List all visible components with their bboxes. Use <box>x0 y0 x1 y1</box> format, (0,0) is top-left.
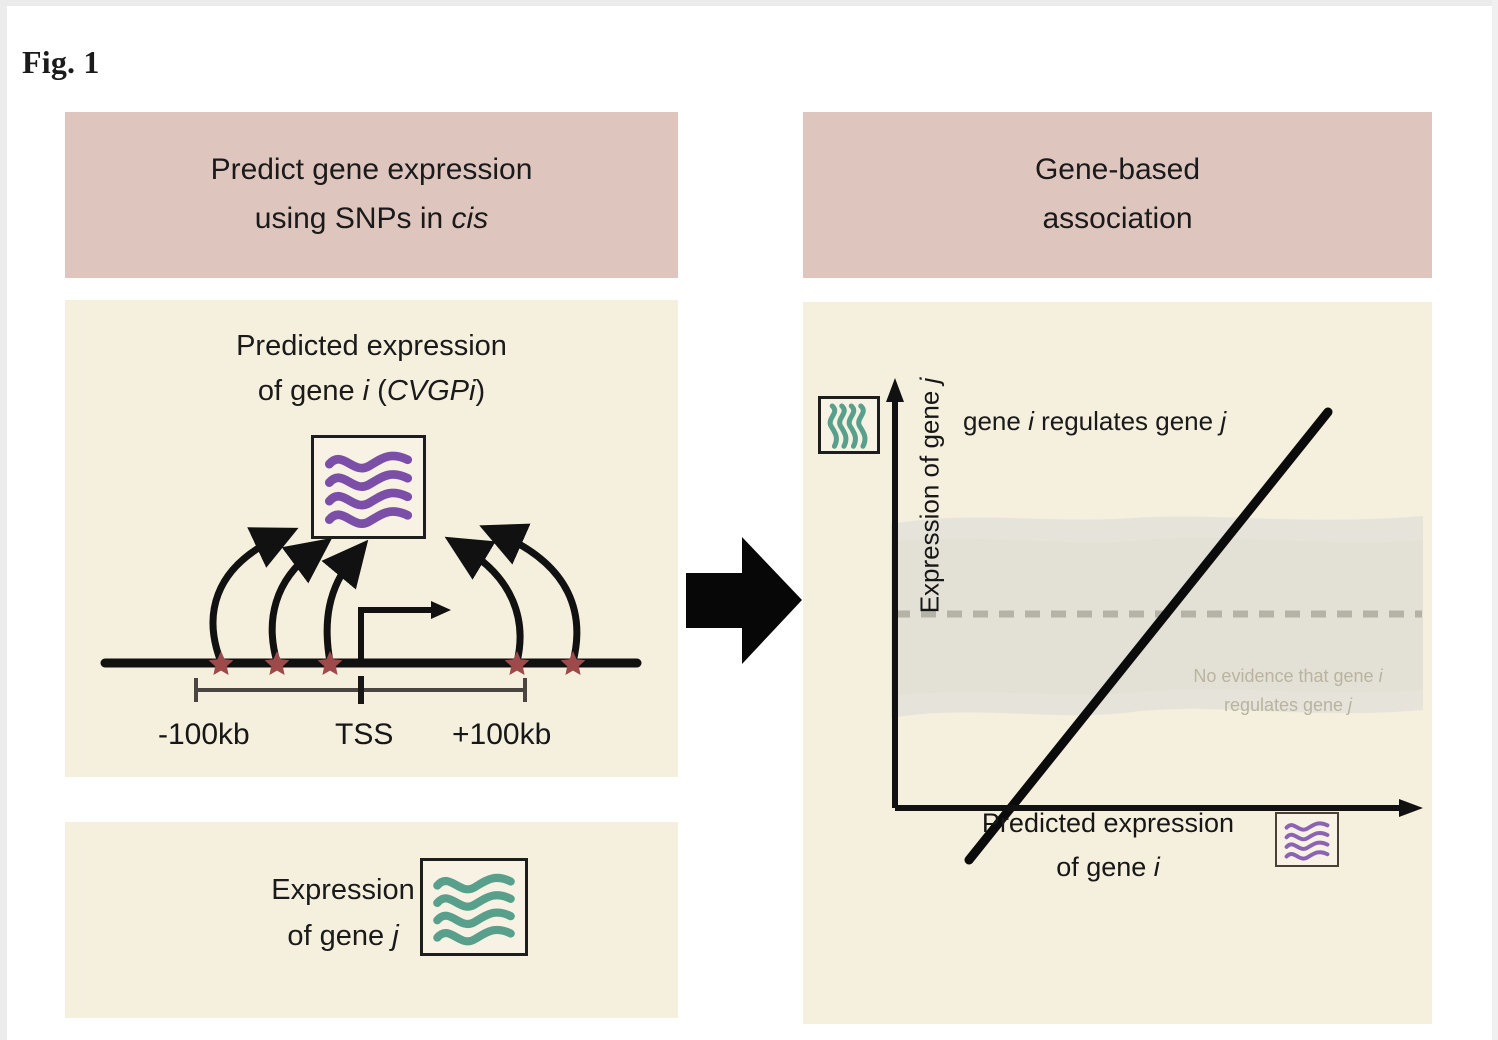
figure-label: Fig. 1 <box>22 44 100 81</box>
snp-star <box>209 651 234 675</box>
tss-arrow <box>361 601 451 662</box>
cis-regulatory-arrows <box>213 535 577 662</box>
right-header-line2: association <box>1042 202 1192 235</box>
cis-arrow-1 <box>213 538 277 662</box>
regulates-prefix: gene <box>963 406 1028 436</box>
regulates-mid: regulates gene <box>1034 406 1220 436</box>
regulates-gene-j: j <box>1220 406 1226 436</box>
left-header-line2-prefix: using SNPs in <box>255 202 452 235</box>
right-header-line1: Gene-based <box>1035 153 1200 186</box>
null-association-annotation: No evidence that gene i regulates gene j <box>1168 662 1408 720</box>
snp-star <box>561 651 586 675</box>
scan-edge-right <box>1492 0 1498 1040</box>
scale-label-minus-100kb: -100kb <box>158 718 250 752</box>
left-panel-header: Predict gene expression using SNPs in ci… <box>65 112 678 278</box>
left-header-line1: Predict gene expression <box>211 153 533 186</box>
right-panel-header: Gene-based association <box>803 112 1432 278</box>
x-axis-line2-prefix: of gene <box>1056 852 1154 882</box>
x-axis-label: Predicted expression of gene i <box>948 802 1268 889</box>
scale-label-plus-100kb: +100kb <box>452 718 551 752</box>
figure-root: Fig. 1 Predict gene expression using SNP… <box>0 0 1498 1040</box>
gene-expression-icon-green-vertical <box>818 396 880 454</box>
y-axis-arrowhead <box>886 378 904 402</box>
no-evidence-line2-prefix: regulates gene <box>1224 695 1348 715</box>
left-panel-header-text: Predict gene expression using SNPs in ci… <box>211 146 533 243</box>
gene-expression-icon-green <box>420 858 528 956</box>
gene-j-label-line1: Expression <box>271 874 414 906</box>
no-evidence-gene-j: j <box>1348 695 1352 715</box>
left-panel-footer: Expression of gene j <box>65 822 678 1018</box>
scan-edge-left <box>0 0 7 1040</box>
x-axis-arrowhead <box>1399 799 1423 817</box>
left-header-line2-italic: cis <box>452 202 489 235</box>
y-axis-gene-j: j <box>915 378 945 384</box>
wave-glyph-purple <box>314 438 423 536</box>
scale-label-tss: TSS <box>335 718 393 752</box>
positive-association-annotation: gene i regulates gene j <box>963 406 1226 437</box>
gene-j-label-italic: j <box>392 920 398 952</box>
gene-expression-icon-purple <box>311 435 426 539</box>
wave-glyph-green <box>423 861 525 953</box>
genomic-scale-bar <box>196 676 525 704</box>
gene-j-label-line2-prefix: of gene <box>287 920 392 952</box>
right-arrow-icon <box>684 533 804 668</box>
no-evidence-line1-prefix: No evidence that gene <box>1193 666 1378 686</box>
snp-star <box>318 651 343 675</box>
scan-edge-top <box>0 0 1498 6</box>
no-evidence-gene-i: i <box>1379 666 1383 686</box>
x-axis-gene-i: i <box>1154 852 1160 882</box>
snp-star <box>265 651 290 675</box>
cis-arrow-3 <box>327 558 353 662</box>
snp-star <box>505 651 530 675</box>
cis-arrow-4 <box>465 549 520 662</box>
cis-arrow-2 <box>272 552 313 662</box>
right-panel-header-text: Gene-based association <box>1035 146 1200 243</box>
gene-expression-icon-purple-small <box>1275 812 1339 867</box>
wave-glyph-green-vertical <box>821 399 877 451</box>
y-axis-prefix: Expression of gene <box>915 383 945 613</box>
wave-glyph-purple-small <box>1277 814 1337 865</box>
y-axis-label: Expression of gene j <box>915 346 946 646</box>
x-axis-line1: Predicted expression <box>982 808 1234 838</box>
